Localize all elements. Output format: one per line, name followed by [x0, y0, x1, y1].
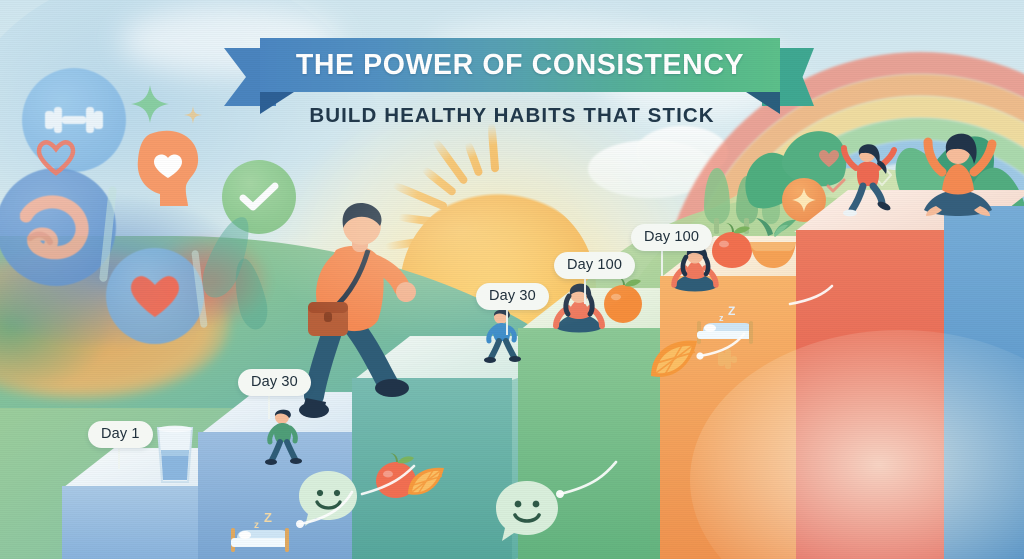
smiley-bubble-icon-lower: [296, 468, 360, 535]
svg-text:Z: Z: [264, 510, 272, 525]
summit-back-block: [944, 206, 1024, 559]
subtitle: BUILD HEALTHY HABITS THAT STICK: [0, 104, 1024, 128]
ribbon-title: THE POWER OF CONSISTENCY: [260, 38, 780, 92]
milestone-label[interactable]: Day 30: [238, 369, 311, 396]
milestone-label[interactable]: Day 100: [631, 224, 712, 251]
heart-outline-icon: [36, 140, 76, 181]
milestone-stem: [506, 309, 508, 335]
milestone-stem: [118, 447, 120, 469]
svg-text:z: z: [254, 520, 259, 531]
milestone-label[interactable]: Day 1: [88, 421, 153, 448]
bicep-flex-icon: [0, 168, 116, 286]
smiley-bubble-icon: [492, 478, 562, 551]
sun-ray: [487, 123, 499, 172]
infographic-canvas: Z z: [0, 0, 1024, 559]
orange-slice-icon-low: [404, 464, 448, 505]
climber-main: [292, 198, 452, 428]
heart-small-right-1: [818, 148, 840, 173]
celebrant-jumping: [838, 140, 902, 220]
title-ribbon: THE POWER OF CONSISTENCY: [224, 38, 814, 100]
milestone-label[interactable]: Day 100: [554, 252, 635, 279]
fruit-bowl-icon: [744, 216, 802, 277]
ribbon-bar: THE POWER OF CONSISTENCY: [260, 38, 780, 92]
heart-icon: [106, 248, 204, 344]
bed-sleep-icon-high: Z z: [694, 302, 758, 351]
svg-text:Z: Z: [728, 304, 735, 318]
milestone-stem: [661, 250, 663, 276]
meditator-1: [550, 282, 608, 340]
svg-text:z: z: [719, 313, 724, 323]
mindfulness-head-icon: [130, 124, 206, 210]
milestone-stem: [584, 278, 586, 304]
celebrant-seated: [912, 124, 1008, 230]
dumbbell-icon-step: [716, 348, 750, 397]
meditator-2: [668, 244, 722, 298]
milestone-label[interactable]: Day 30: [476, 283, 549, 310]
water-glass-icon: [152, 424, 198, 491]
milestone-stem: [268, 395, 270, 419]
sun-ray: [464, 141, 484, 177]
bed-sleep-icon: Z z: [228, 508, 294, 559]
walker-small-2: [482, 308, 522, 364]
